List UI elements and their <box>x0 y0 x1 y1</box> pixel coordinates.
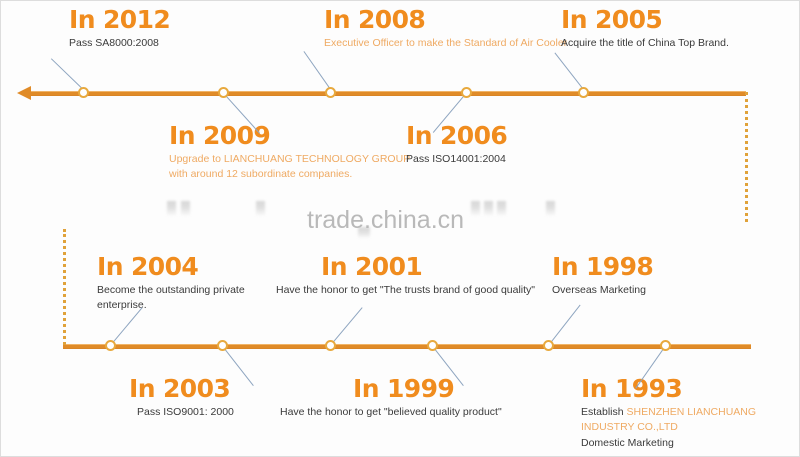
timeline-entry-1999[interactable]: In 1999 Have the honor to get "believed … <box>353 376 613 420</box>
entry-year-2005: In 2005 <box>561 7 776 33</box>
timeline-node-2003[interactable] <box>217 340 228 351</box>
entry-desc-2005: Acquire the title of China Top Brand. <box>561 36 776 51</box>
timeline-infographic: In 2012 Pass SA8000:2008 In 2009 Upgrade… <box>0 0 800 457</box>
entry-desc-1993: Establish SHENZHEN LIANCHUANG INDUSTRY C… <box>581 405 793 451</box>
entry-desc-1993-suffix: Domestic Marketing <box>581 437 674 449</box>
connector-dotted-left <box>63 229 66 345</box>
entry-year-2009: In 2009 <box>169 123 429 149</box>
entry-desc-1999: Have the honor to get "believed quality … <box>280 405 613 420</box>
entry-year-2012: In 2012 <box>69 7 239 33</box>
entry-desc-2004: Become the outstanding private enterpris… <box>97 283 262 313</box>
timeline-rail-top <box>29 91 746 96</box>
timeline-node-2004[interactable] <box>105 340 116 351</box>
entry-desc-2008: Executive Officer to make the Standard o… <box>324 36 584 51</box>
timeline-entry-1998[interactable]: In 1998 Overseas Marketing <box>552 254 732 298</box>
timeline-entry-2008[interactable]: In 2008 Executive Officer to make the St… <box>324 7 584 51</box>
leader-line-2005 <box>554 53 584 91</box>
entry-desc-2001: Have the honor to get "The trusts brand … <box>276 283 571 298</box>
entry-desc-2006: Pass ISO14001:2004 <box>406 152 586 167</box>
watermark-smudge <box>181 201 190 217</box>
timeline-entry-2006[interactable]: In 2006 Pass ISO14001:2004 <box>406 123 586 167</box>
entry-desc-1998: Overseas Marketing <box>552 283 732 298</box>
leader-line-1998 <box>549 305 581 345</box>
timeline-node-1998[interactable] <box>543 340 554 351</box>
timeline-node-2008[interactable] <box>325 87 336 98</box>
entry-year-1999: In 1999 <box>353 376 613 402</box>
entry-desc-2009: Upgrade to LIANCHUANG TECHNOLOGY GROUP w… <box>169 152 429 182</box>
leader-line-2012 <box>51 58 85 91</box>
leader-line-2001 <box>331 307 363 344</box>
entry-year-2006: In 2006 <box>406 123 586 149</box>
timeline-node-2009[interactable] <box>218 87 229 98</box>
timeline-node-2005[interactable] <box>578 87 589 98</box>
timeline-entry-2012[interactable]: In 2012 Pass SA8000:2008 <box>69 7 239 51</box>
timeline-rail-bottom <box>63 344 751 349</box>
timeline-entry-2009[interactable]: In 2009 Upgrade to LIANCHUANG TECHNOLOGY… <box>169 123 429 183</box>
watermark-smudge <box>256 201 265 217</box>
leader-line-2008 <box>303 51 331 91</box>
timeline-node-2001[interactable] <box>325 340 336 351</box>
entry-desc-2012: Pass SA8000:2008 <box>69 36 239 51</box>
watermark-smudge <box>546 201 555 217</box>
timeline-node-2006[interactable] <box>461 87 472 98</box>
entry-year-2003: In 2003 <box>129 376 309 402</box>
connector-dotted-right <box>745 92 748 222</box>
entry-year-1993: In 1993 <box>581 376 793 402</box>
timeline-entry-2004[interactable]: In 2004 Become the outstanding private e… <box>97 254 262 314</box>
entry-year-2004: In 2004 <box>97 254 262 280</box>
timeline-node-2012[interactable] <box>78 87 89 98</box>
timeline-node-1993[interactable] <box>660 340 671 351</box>
entry-year-2008: In 2008 <box>324 7 584 33</box>
watermark-text: trade.china.cn <box>307 206 464 235</box>
entry-desc-1993-prefix: Establish <box>581 406 627 418</box>
entry-year-2001: In 2001 <box>321 254 571 280</box>
watermark-smudge <box>484 201 493 217</box>
entry-year-1998: In 1998 <box>552 254 732 280</box>
watermark-smudge <box>167 201 176 217</box>
timeline-entry-2001[interactable]: In 2001 Have the honor to get "The trust… <box>321 254 571 298</box>
watermark-smudge <box>471 201 480 217</box>
timeline-entry-1993[interactable]: In 1993 Establish SHENZHEN LIANCHUANG IN… <box>581 376 793 451</box>
watermark-smudge <box>497 201 506 217</box>
timeline-entry-2005[interactable]: In 2005 Acquire the title of China Top B… <box>561 7 776 51</box>
timeline-node-1999[interactable] <box>427 340 438 351</box>
timeline-arrow-left-icon <box>17 86 31 100</box>
